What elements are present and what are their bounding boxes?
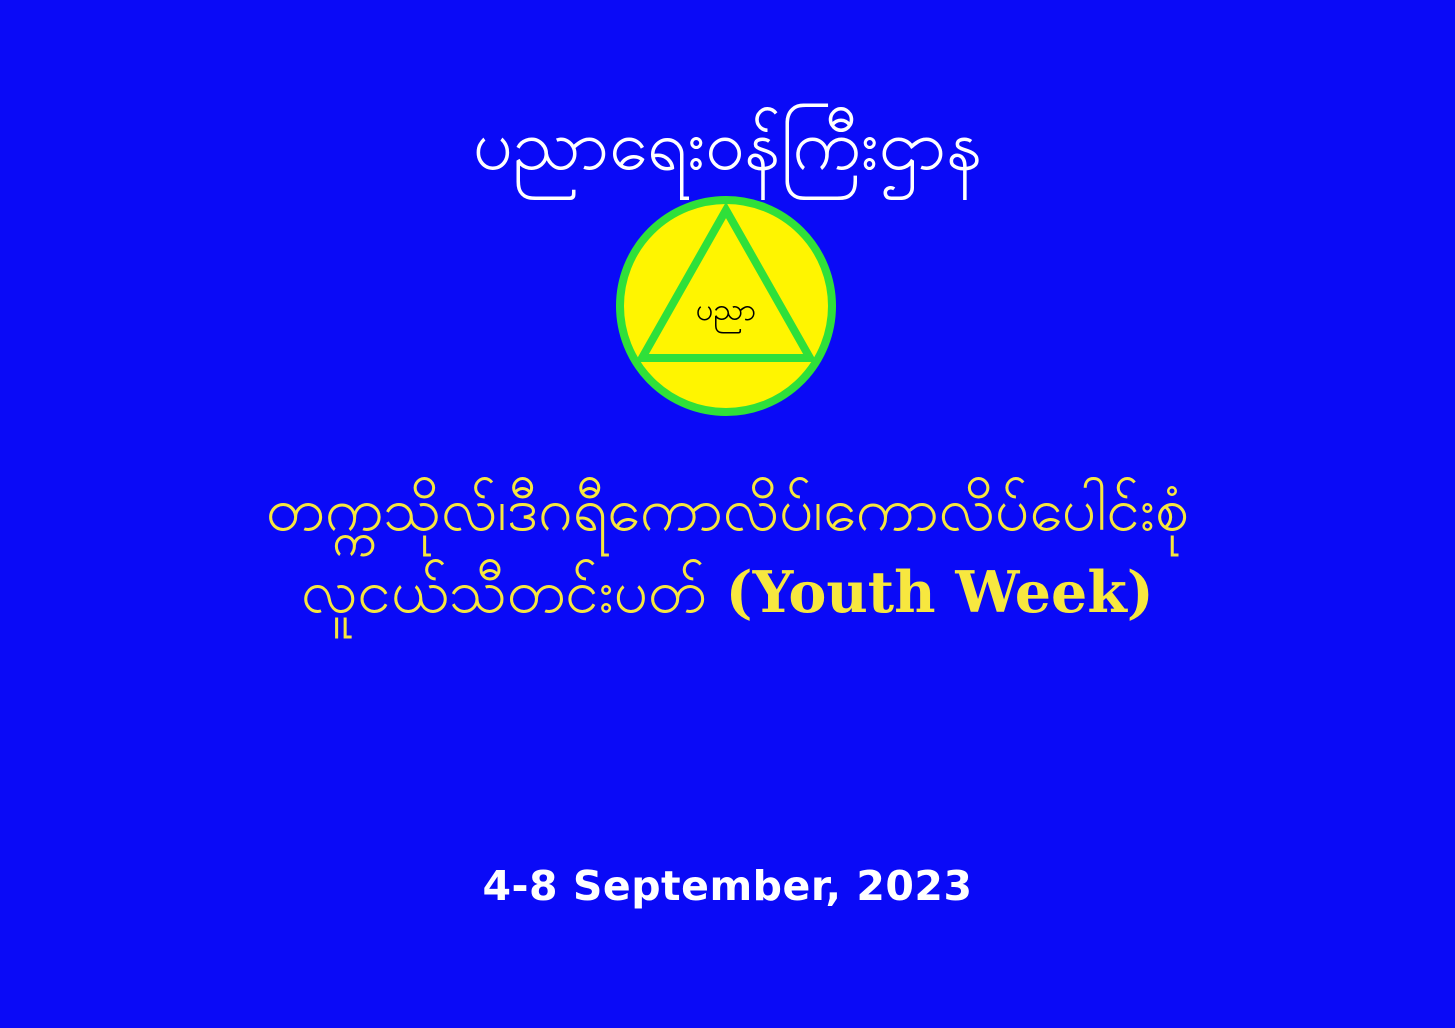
event-subtitle-line-1: တက္ကသိုလ်၊ဒီဂရီကောလိပ်၊ကောလိပ်ပေါင်းစုံ bbox=[0, 470, 1455, 552]
event-date: 4-8 September, 2023 bbox=[0, 862, 1455, 910]
page-title: ပညာရေးဝန်ကြီးဌာန bbox=[0, 105, 1455, 186]
event-subtitle-line-2: လူငယ်သီတင်းပတ် (Youth Week) bbox=[0, 552, 1455, 634]
emblem-graphic bbox=[614, 194, 838, 418]
event-subtitle-line-2-my: လူငယ်သီတင်းပတ် bbox=[301, 557, 725, 627]
event-subtitle-line-2-en: (Youth Week) bbox=[726, 559, 1154, 626]
slide-canvas: ပညာရေးဝန်ကြီးဌာန ပညာ တက္ကသိုလ်၊ဒီဂရီကောလ… bbox=[0, 0, 1455, 1028]
event-subtitle: တက္ကသိုလ်၊ဒီဂရီကောလိပ်၊ကောလိပ်ပေါင်းစုံ … bbox=[0, 470, 1455, 633]
ministry-emblem: ပညာ bbox=[614, 194, 838, 418]
